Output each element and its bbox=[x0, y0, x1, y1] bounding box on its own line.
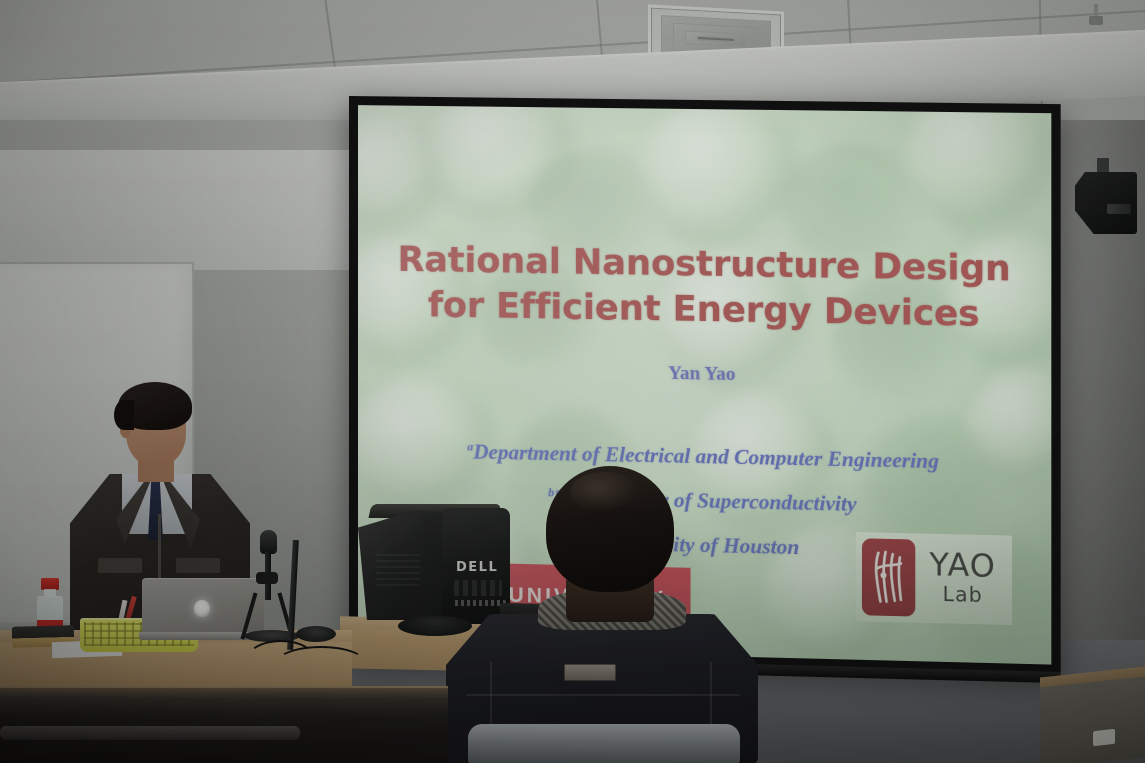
cable-coil bbox=[296, 626, 336, 642]
wall-upper-left-panel bbox=[0, 150, 350, 270]
side-counter-front bbox=[1040, 676, 1145, 763]
wall-power-outlet[interactable] bbox=[1093, 729, 1115, 746]
presenter-pocket-left bbox=[98, 558, 142, 573]
speaker-bracket bbox=[1097, 158, 1109, 174]
jacket-label-patch bbox=[564, 664, 616, 681]
monitor-rear-vents bbox=[376, 552, 420, 586]
seated-audience-member bbox=[438, 466, 768, 763]
audience-chair bbox=[468, 724, 740, 763]
yao-lab-wordmark: YAO Lab bbox=[915, 550, 1006, 609]
wall-speaker bbox=[1075, 168, 1137, 238]
lecture-hall-photo: Rational Nanostructure Design for Effici… bbox=[0, 0, 1145, 763]
jacket-yoke-seam bbox=[466, 694, 740, 696]
microphone-clip bbox=[256, 572, 278, 584]
yao-lab-mark-icon bbox=[862, 538, 915, 616]
cable-loop bbox=[276, 646, 366, 680]
fire-sprinkler-head bbox=[1089, 4, 1103, 28]
presenter-pocket-right bbox=[176, 558, 220, 573]
slide-background-blob bbox=[640, 105, 803, 252]
yao-lab-name: YAO bbox=[919, 550, 1005, 583]
audience-head bbox=[546, 466, 674, 592]
presenter-hair bbox=[118, 382, 192, 430]
slide-title: Rational Nanostructure Design for Effici… bbox=[358, 237, 1051, 338]
foreground-desk-rail bbox=[0, 726, 300, 740]
slide-background-blob bbox=[905, 105, 1051, 235]
speaker-enclosure bbox=[1075, 172, 1137, 234]
yao-lab-logo: YAO Lab bbox=[856, 532, 1012, 625]
microphone-capsule bbox=[260, 530, 277, 554]
speaker-grille bbox=[1107, 204, 1131, 214]
apple-logo-icon bbox=[194, 600, 210, 617]
yao-lab-sub: Lab bbox=[919, 581, 1005, 608]
